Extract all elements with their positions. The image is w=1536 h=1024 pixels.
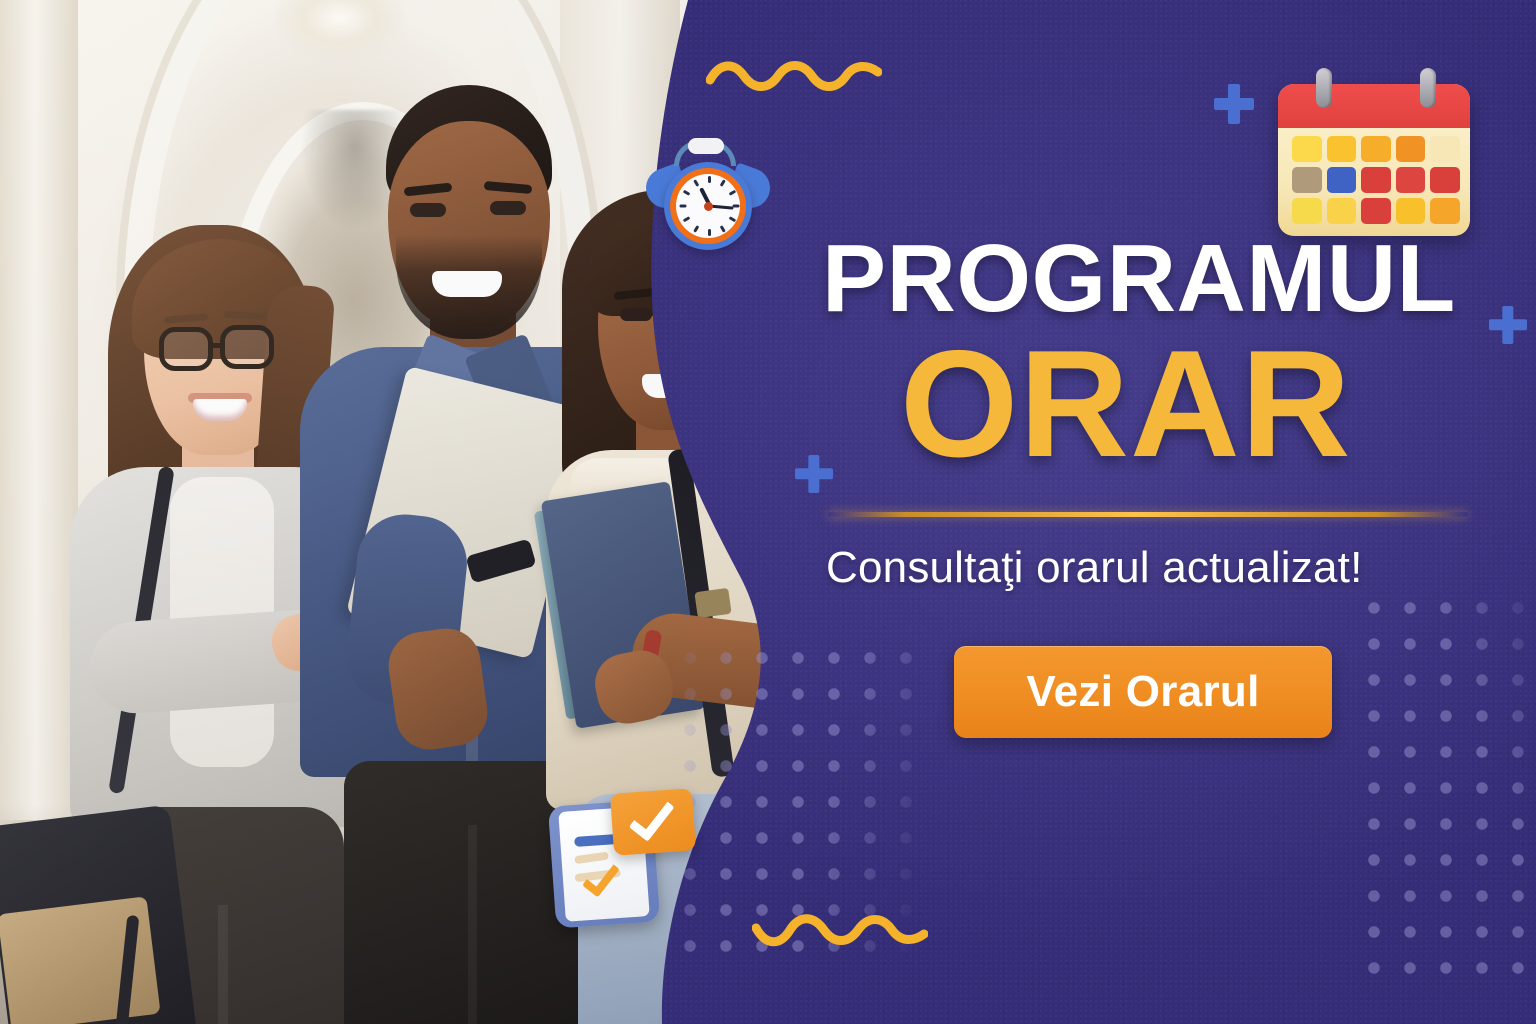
clock-tick [708, 229, 711, 236]
headline-secondary: ORAR [900, 332, 1460, 476]
clock-tick [720, 179, 726, 187]
clock-tick [733, 205, 740, 208]
subtitle-text: Consultaţi orarul actualizat! [826, 543, 1486, 593]
calendar-day-cell [1430, 136, 1460, 162]
clock-center-pin [704, 202, 713, 211]
calendar-day-cell [1292, 198, 1322, 224]
clock-tick [680, 205, 687, 208]
clock-tick [729, 216, 737, 222]
clock-tick [683, 216, 691, 222]
clipboard-check-badge [610, 788, 696, 856]
calendar-icon [1278, 84, 1470, 236]
clock-tick [693, 225, 699, 233]
calendar-header [1278, 84, 1470, 128]
calendar-day-cell [1327, 167, 1357, 193]
clock-tick [708, 176, 711, 183]
headline-primary: PROGRAMUL [822, 232, 1422, 326]
calendar-day-cell [1396, 198, 1426, 224]
calendar-day-cell [1396, 136, 1426, 162]
gold-divider [828, 512, 1468, 517]
calendar-ring-right [1420, 68, 1436, 108]
schedule-promo-banner: PROGRAMUL ORAR Consultaţi orarul actuali… [0, 0, 1536, 1024]
calendar-day-grid [1292, 136, 1460, 224]
clock-tick [693, 179, 699, 187]
check-icon [629, 792, 675, 841]
calendar-day-cell [1430, 167, 1460, 193]
calendar-day-cell [1430, 198, 1460, 224]
clock-tick [729, 190, 737, 196]
calendar-day-cell [1396, 167, 1426, 193]
calendar-day-cell [1327, 136, 1357, 162]
calendar-day-cell [1327, 198, 1357, 224]
calendar-body [1278, 84, 1470, 236]
calendar-day-cell [1361, 136, 1391, 162]
squiggle-bottom-icon [752, 912, 928, 948]
calendar-day-cell [1292, 136, 1322, 162]
clock-tick [683, 190, 691, 196]
clock-top-button [688, 138, 724, 154]
plus-icon-top-right [1214, 84, 1254, 124]
calendar-day-cell [1361, 167, 1391, 193]
view-schedule-button[interactable]: Vezi Orarul [954, 646, 1332, 738]
calendar-day-cell [1292, 167, 1322, 193]
plus-icon-right [1489, 306, 1527, 344]
checklist-clipboard-icon [552, 795, 672, 925]
squiggle-top-icon [706, 58, 882, 94]
clock-tick [720, 225, 726, 233]
calendar-ring-left [1316, 68, 1332, 108]
clock-face [676, 174, 740, 238]
plus-icon-left [795, 455, 833, 493]
alarm-clock-icon [650, 148, 766, 252]
calendar-day-cell [1361, 198, 1391, 224]
